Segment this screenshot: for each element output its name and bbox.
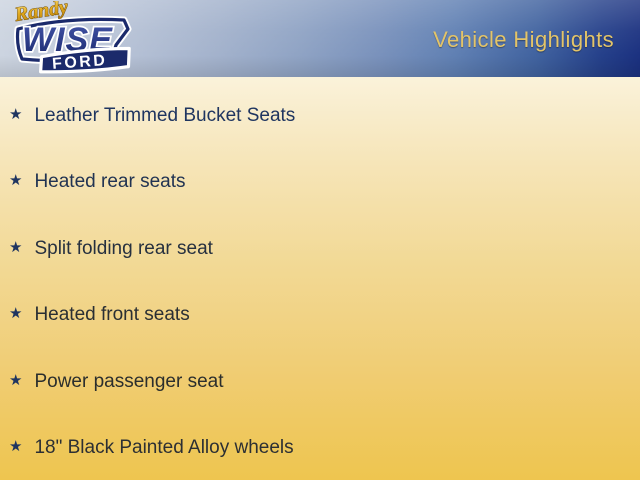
star-icon: ★: [9, 173, 22, 188]
page-title: Vehicle Highlights: [433, 27, 614, 53]
highlight-label: 18" Black Painted Alloy wheels: [34, 438, 293, 457]
list-item: ★ Split folding rear seat: [9, 234, 213, 262]
star-icon: ★: [9, 439, 22, 454]
star-icon: ★: [9, 240, 22, 255]
randy-wise-ford-logo: WISE Randy FORD: [4, 1, 136, 77]
highlight-label: Split folding rear seat: [34, 239, 213, 258]
list-item: ★ Leather Trimmed Bucket Seats: [9, 101, 295, 129]
highlight-label: Heated rear seats: [34, 172, 185, 191]
star-icon: ★: [9, 373, 22, 388]
highlight-label: Leather Trimmed Bucket Seats: [34, 106, 295, 125]
header-bar: WISE Randy FORD Vehicle Highlights: [0, 0, 640, 77]
list-item: ★ Heated rear seats: [9, 167, 185, 195]
list-item: ★ 18" Black Painted Alloy wheels: [9, 433, 294, 461]
star-icon: ★: [9, 306, 22, 321]
highlight-label: Heated front seats: [34, 305, 189, 324]
star-icon: ★: [9, 107, 22, 122]
list-item: ★ Power passenger seat: [9, 367, 224, 395]
highlights-list: ★ Leather Trimmed Bucket Seats ★ Heated …: [0, 77, 640, 480]
list-item: ★ Heated front seats: [9, 300, 190, 328]
highlight-label: Power passenger seat: [34, 372, 223, 391]
logo-artwork: WISE Randy FORD: [4, 1, 136, 77]
vehicle-highlights-slide: WISE Randy FORD Vehicle Highlights ★ Lea…: [0, 0, 640, 480]
